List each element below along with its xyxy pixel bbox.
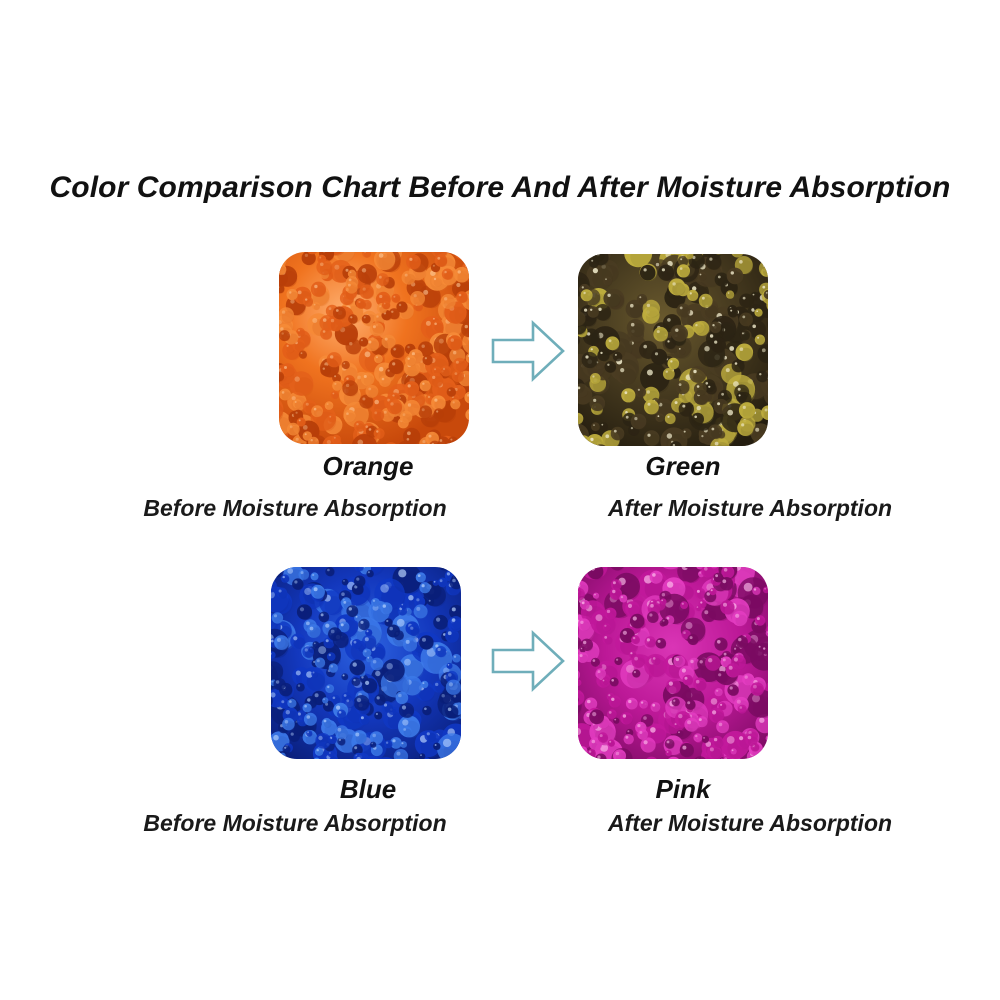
blue-silica-gel-beads-image [271,567,461,759]
moisture-absorption-infographic: Color Comparison Chart Before And After … [0,0,1000,1000]
arrow-right-outline-icon-top [489,318,567,384]
page-title: Color Comparison Chart Before And After … [0,171,1000,205]
orange-silica-gel-beads-image [279,252,469,444]
pink-silica-gel-beads-image [578,567,768,759]
panel-blue-before [271,567,461,759]
green-silica-gel-beads-image [578,254,768,446]
state-label-pink: After Moisture Absorption [520,810,980,837]
color-name-green: Green [493,451,873,482]
state-label-blue: Before Moisture Absorption [65,810,525,837]
state-label-green: After Moisture Absorption [520,495,980,522]
state-label-orange: Before Moisture Absorption [65,495,525,522]
panel-pink-after [578,567,768,759]
panel-orange-before [279,252,469,444]
color-name-pink: Pink [493,774,873,805]
arrow-right-outline-icon-bottom [489,628,567,694]
panel-green-after [578,254,768,446]
